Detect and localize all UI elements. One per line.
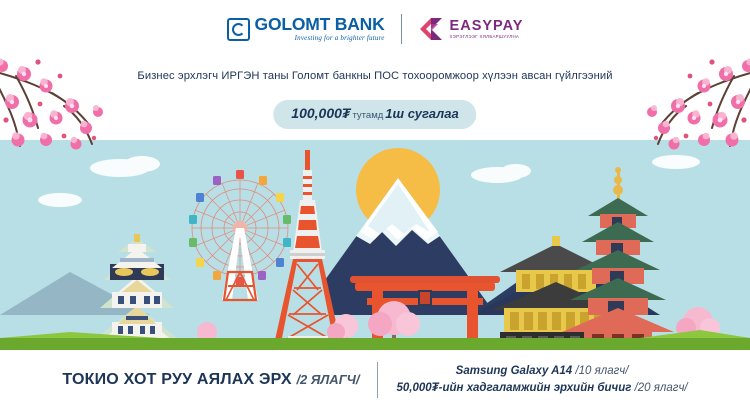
third-prize-label: 50,000₮-ийн хадгаламжийн эрхийн бичиг: [396, 382, 631, 394]
scene-svg: [0, 140, 750, 350]
pill-middle: тутамд: [350, 110, 385, 121]
golomt-bank-name: GOLOMT BANK: [255, 16, 385, 34]
easypay-wordmark: EASYPAY ХЭРЭГЛЭЭГ ХЯЛБАРШУУЛНА: [450, 19, 524, 40]
second-prize: Samsung Galaxy A14 /10 ялагч/: [396, 363, 687, 380]
prize-divider: [377, 362, 378, 398]
easypay-logo: EASYPAY ХЭРЭГЛЭЭГ ХЯЛБАРШУУЛНА: [418, 16, 524, 42]
japan-scene-illustration: [0, 140, 750, 350]
second-prize-label: Samsung Galaxy A14: [456, 365, 573, 377]
prize-footer-band: ТОКИО ХОТ РУУ АЯЛАХ ЭРХ /2 ЯЛАГЧ/ Samsun…: [0, 350, 750, 404]
pill-count: 1ш сугалаа: [385, 106, 458, 121]
golomt-tagline: Investing for a brighter future: [255, 35, 385, 42]
logo-divider: [401, 14, 402, 44]
grand-prize-quantity: /2 ЯЛАГЧ/: [296, 372, 359, 387]
golomt-wordmark: GOLOMT BANK Investing for a brighter fut…: [255, 16, 385, 42]
third-prize-quantity: /20 ялагч/: [635, 382, 688, 394]
easypay-arrow-mark-icon: [418, 16, 444, 42]
grass-band: [0, 338, 750, 350]
easypay-name: EASYPAY: [450, 19, 524, 34]
golomt-g-mark-icon: [227, 18, 250, 41]
promotional-banner: ТОКИО ХОТ РУУ АЯЛАХ ЭРХ /2 ЯЛАГЧ/ Samsun…: [0, 0, 750, 404]
logo-row: GOLOMT BANK Investing for a brighter fut…: [0, 14, 750, 44]
pill-amount: 100,000₮: [291, 105, 350, 121]
promo-headline: Бизнес эрхлэгч ИРГЭН таны Голомт банкны …: [0, 70, 750, 82]
promo-pill: 100,000₮тутамд1ш сугалаа: [273, 100, 476, 129]
golomt-bank-logo: GOLOMT BANK Investing for a brighter fut…: [227, 16, 385, 42]
easypay-tagline: ХЭРЭГЛЭЭГ ХЯЛБАРШУУЛНА: [450, 35, 524, 39]
grand-prize-label: ТОКИО ХОТ РУУ АЯЛАХ ЭРХ: [62, 371, 291, 388]
second-prize-quantity: /10 ялагч/: [575, 365, 628, 377]
grand-prize: ТОКИО ХОТ РУУ АЯЛАХ ЭРХ /2 ЯЛАГЧ/: [62, 371, 359, 389]
secondary-prizes: Samsung Galaxy A14 /10 ялагч/ 50,000₮-ий…: [396, 363, 687, 396]
third-prize: 50,000₮-ийн хадгаламжийн эрхийн бичиг /2…: [396, 380, 687, 397]
